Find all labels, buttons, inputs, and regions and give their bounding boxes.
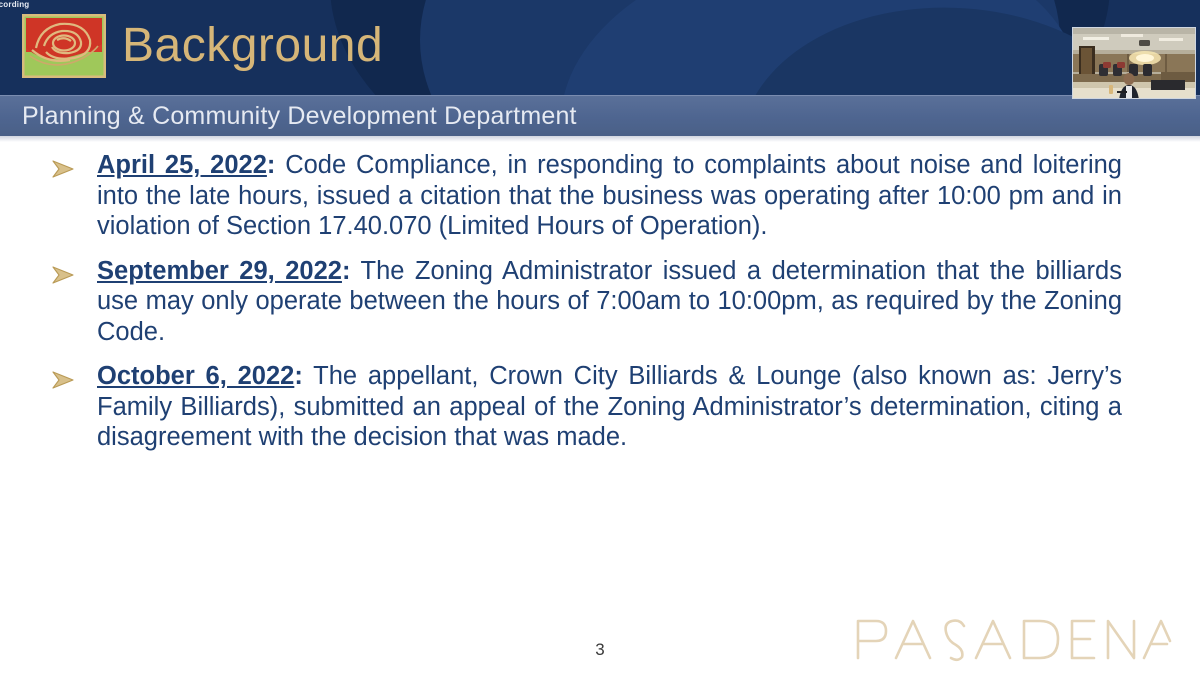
list-item-text: September 29, 2022: The Zoning Administr… <box>97 256 1122 348</box>
recording-indicator-label: ecording <box>0 0 29 9</box>
list-item-text: April 25, 2022: Code Compliance, in resp… <box>97 150 1122 242</box>
list-item-date: October 6, 2022 <box>97 362 294 390</box>
slide-body: April 25, 2022: Code Compliance, in resp… <box>0 150 1200 467</box>
pasadena-rose-logo-icon <box>22 14 106 78</box>
header-swoosh-mid <box>420 0 1060 95</box>
list-item: September 29, 2022: The Zoning Administr… <box>0 256 1200 348</box>
list-item-text: October 6, 2022: The appellant, Crown Ci… <box>97 361 1122 453</box>
arrow-bullet-icon <box>50 369 76 391</box>
pasadena-wordmark <box>852 612 1172 666</box>
list-item-date: April 25, 2022 <box>97 151 267 179</box>
header-swoosh-dark <box>330 0 1110 95</box>
list-item-colon: : <box>294 362 303 390</box>
arrow-bullet-icon <box>50 264 76 286</box>
list-item-date: September 29, 2022 <box>97 257 342 285</box>
department-subtitle-band: Planning & Community Development Departm… <box>0 95 1200 136</box>
arrow-bullet-icon <box>50 158 76 180</box>
header-swoosh-light <box>544 0 1096 95</box>
department-subtitle-text: Planning & Community Development Departm… <box>22 96 577 137</box>
list-item: October 6, 2022: The appellant, Crown Ci… <box>0 361 1200 453</box>
page-title: Background <box>122 10 383 82</box>
list-item: April 25, 2022: Code Compliance, in resp… <box>0 150 1200 242</box>
presentation-slide: ecording Background Planning & Community… <box>0 0 1200 678</box>
video-feed-thumbnail[interactable] <box>1072 27 1196 99</box>
